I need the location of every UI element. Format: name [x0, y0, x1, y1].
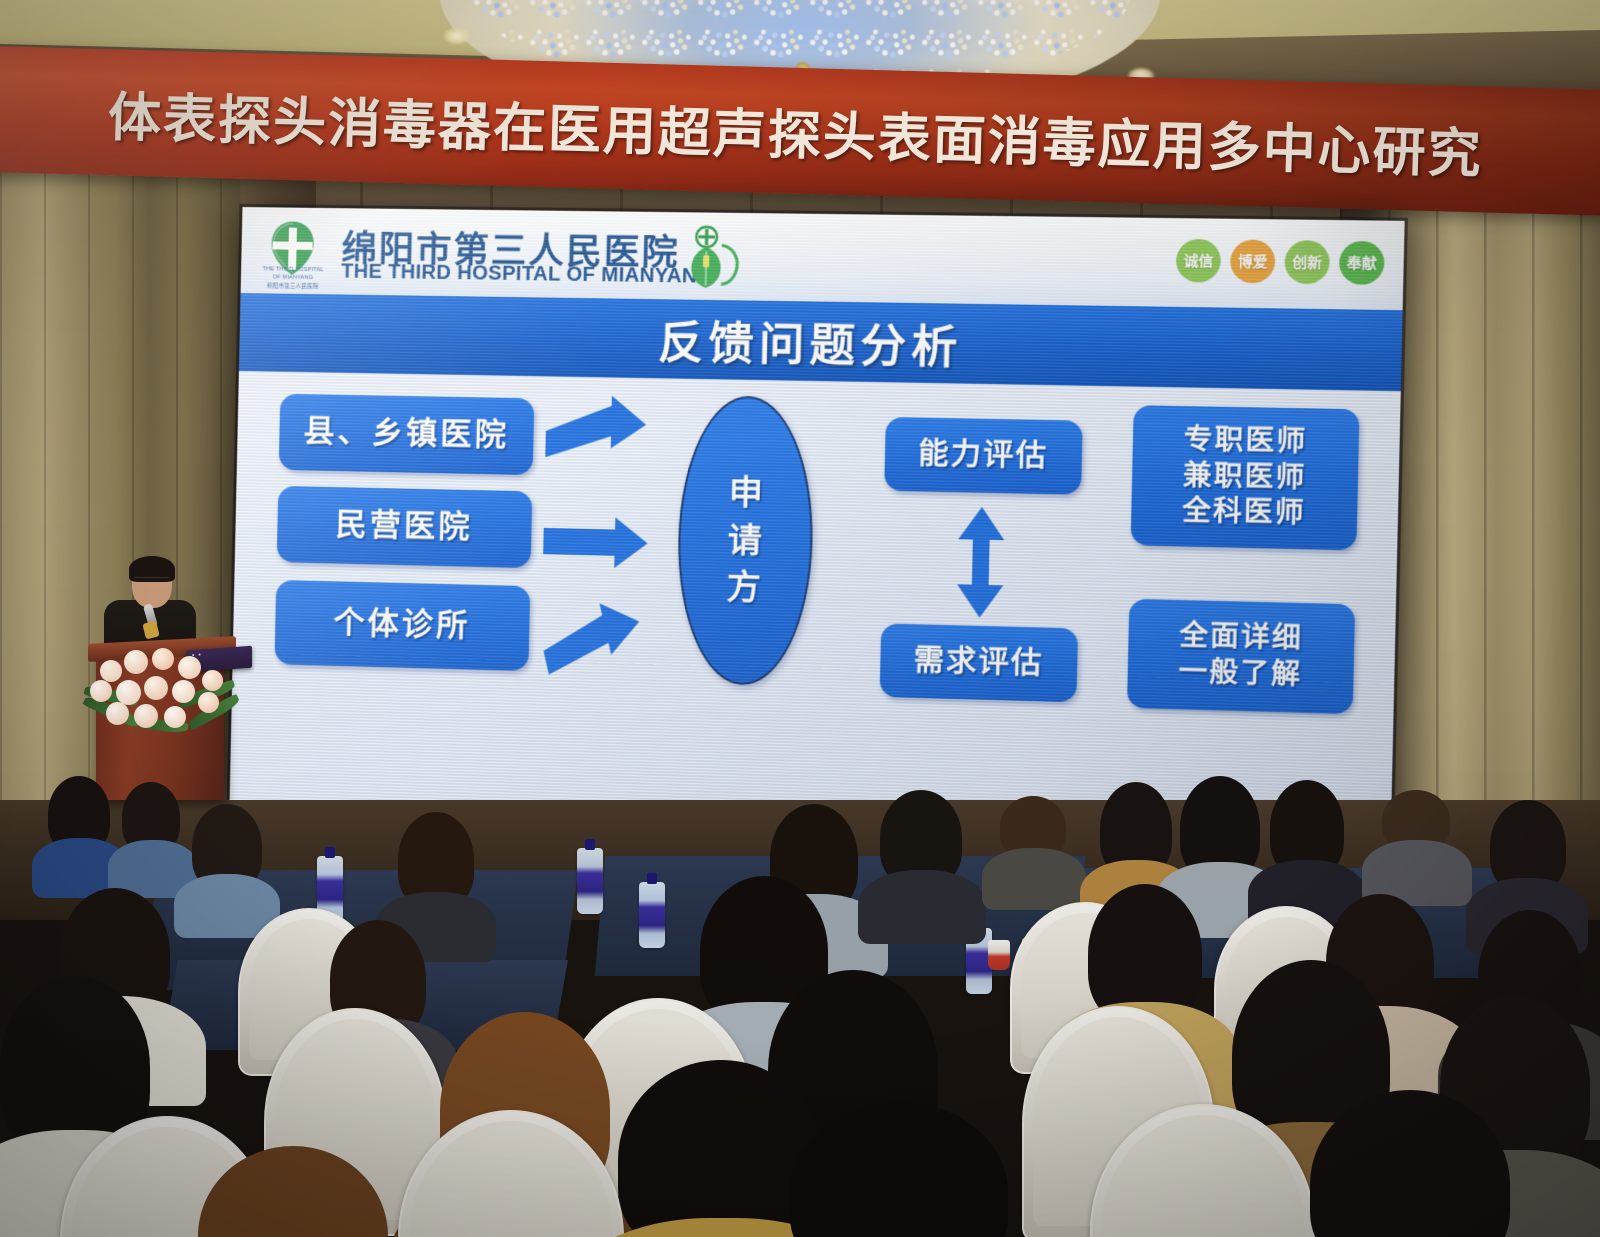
box-label: 能力评估 — [918, 435, 1049, 476]
audience-area — [0, 760, 1600, 1237]
box-label-line: 全科医师 — [1182, 494, 1306, 532]
flower-arrangement-icon — [82, 636, 242, 740]
presentation-slide: THE THIRD HOSPITAL OF MIANYANG 绵阳市第三人民医院… — [230, 207, 1405, 840]
converging-arrows-icon — [534, 394, 683, 691]
diagram-box-detail-level: 全面详细 一般了解 — [1127, 599, 1355, 714]
logo-sub-line1: THE THIRD HOSPITAL — [262, 266, 323, 273]
box-label: 民营医院 — [335, 505, 473, 548]
node-char: 申 — [728, 469, 764, 517]
diagram-box-private-clinic: 个体诊所 — [274, 580, 530, 671]
glasses-icon — [134, 577, 170, 585]
slide-title: 反馈问题分析 — [658, 306, 964, 376]
value-badge-fengxian: 奉献 — [1339, 241, 1385, 285]
value-badge-chuangxin: 创新 — [1284, 240, 1330, 284]
value-badge-chengxin: 诚信 — [1176, 239, 1222, 283]
downlight-icon — [444, 28, 470, 44]
diagram-box-private-hospital: 民营医院 — [277, 486, 533, 568]
water-bottle-icon — [639, 882, 665, 948]
green-leaf-person-icon — [684, 224, 743, 288]
diagram-box-county-township-hospital: 县、乡镇医院 — [279, 394, 535, 475]
value-badge-boai: 博爱 — [1230, 239, 1276, 283]
hospital-name-en: THE THIRD HOSPITAL OF MIANYANG — [341, 260, 714, 288]
node-char: 请 — [727, 516, 763, 564]
conference-photo: 体表探头消毒器在医用超声探头表面消毒应用多中心研究 THE THIRD HOSP… — [0, 0, 1600, 1237]
double-headed-arrow-icon — [948, 504, 1013, 620]
box-label: 县、乡镇医院 — [303, 412, 509, 456]
diagram-box-physician-types: 专职医师 兼职医师 全科医师 — [1131, 405, 1360, 550]
logo-sub-line3: 绵阳市第三人民医院 — [267, 283, 318, 290]
diagram-box-demand-assessment: 需求评估 — [880, 623, 1078, 702]
logo-subtext: THE THIRD HOSPITAL OF MIANYANG 绵阳市第三人民医院 — [253, 265, 334, 291]
box-label-line: 全面详细 — [1179, 619, 1303, 658]
banner-text: 体表探头消毒器在医用超声探头表面消毒应用多中心研究 — [107, 75, 1529, 189]
value-badges: 诚信 博爱 创新 奉献 — [1176, 239, 1385, 285]
led-screen: THE THIRD HOSPITAL OF MIANYANG 绵阳市第三人民医院… — [230, 207, 1405, 840]
diagram-box-capability-assessment: 能力评估 — [884, 417, 1082, 495]
box-label: 需求评估 — [913, 642, 1044, 683]
node-char: 方 — [726, 564, 762, 612]
diagram-node-applicant: 申 请 方 — [675, 395, 815, 687]
water-bottle-icon — [577, 848, 603, 914]
box-label: 个体诊所 — [333, 604, 471, 647]
paper-cup-icon — [988, 940, 1010, 970]
box-label-line: 一般了解 — [1178, 655, 1302, 694]
box-label-line: 兼职医师 — [1183, 458, 1307, 496]
box-label-line: 专职医师 — [1183, 423, 1307, 461]
logo-sub-line2: OF MIANYANG — [273, 275, 313, 282]
